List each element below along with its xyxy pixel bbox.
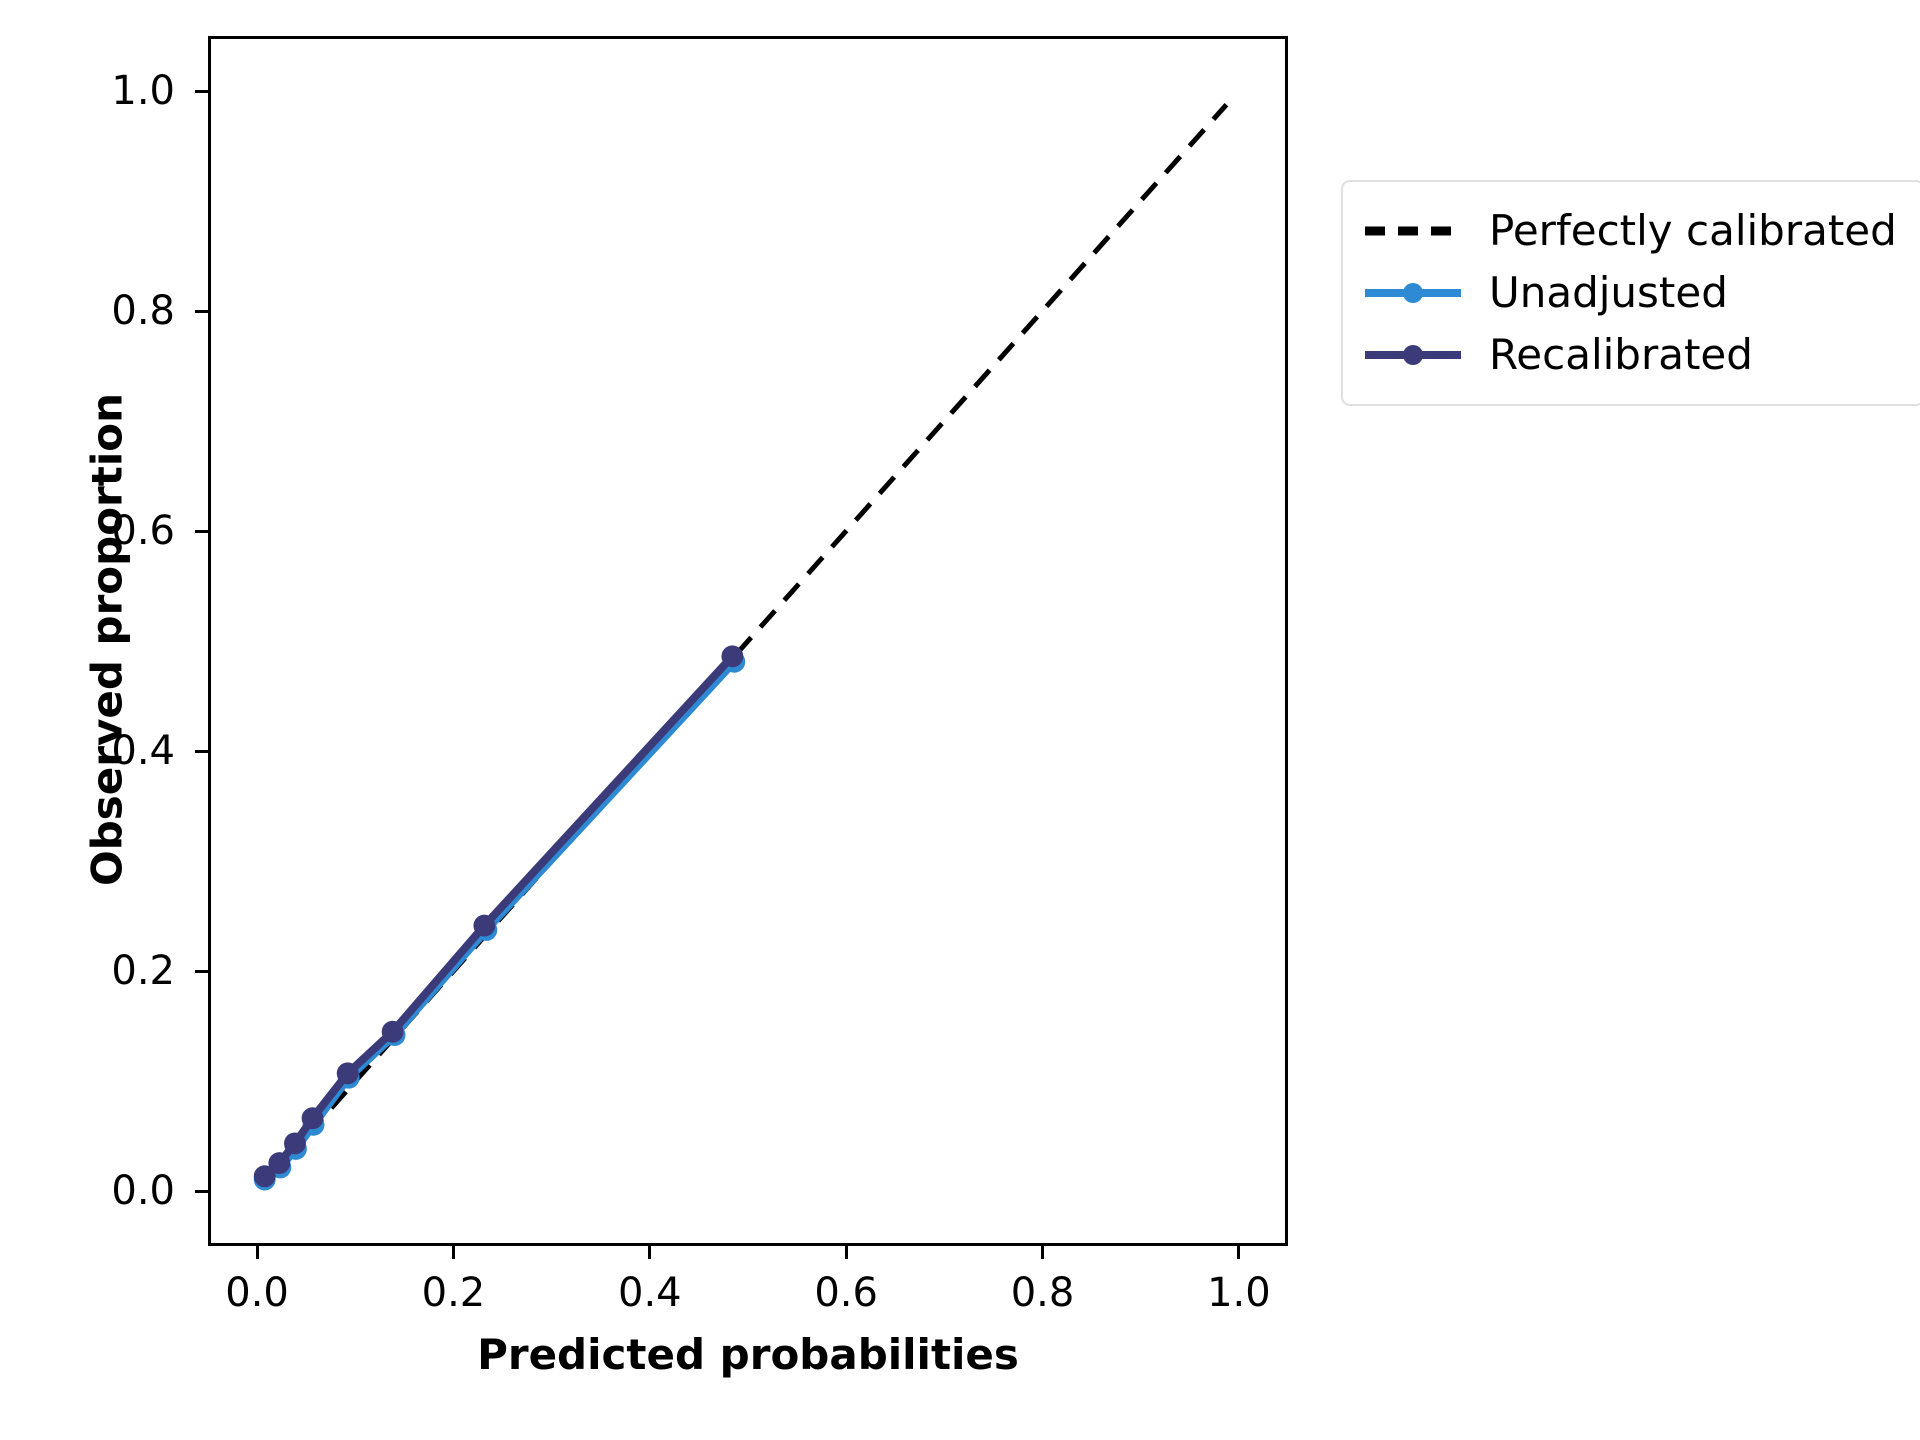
x-axis-label: Predicted probabilities [208,1330,1288,1379]
data-point [268,1152,290,1174]
legend-label: Unadjusted [1489,272,1728,314]
plot-axes-area [208,36,1288,1246]
x-tick-label: 0.2 [422,1270,486,1316]
y-tick-mark [195,970,208,973]
x-tick-mark [1237,1246,1240,1259]
x-tick-mark [256,1246,259,1259]
data-point [337,1062,359,1084]
x-tick-label: 0.6 [814,1270,878,1316]
legend-swatch-icon [1363,340,1463,370]
data-point [302,1107,324,1129]
x-tick-label: 0.4 [618,1270,682,1316]
series-unadjusted [254,651,746,1191]
x-tick-label: 0.8 [1011,1270,1075,1316]
legend-swatch-icon [1363,278,1463,308]
chart-legend: Perfectly calibratedUnadjustedRecalibrat… [1341,180,1920,406]
legend-swatch-icon [1363,216,1463,246]
series-line [265,662,735,1180]
y-tick-mark [195,90,208,93]
y-tick-label: 1.0 [55,68,175,114]
y-tick-mark [195,530,208,533]
legend-label: Recalibrated [1489,334,1753,376]
data-point [473,915,495,937]
y-tick-mark [195,310,208,313]
y-tick-mark [195,1190,208,1193]
calibration-plot-figure: 0.00.20.40.60.81.00.00.20.40.60.81.0 Pre… [0,0,1920,1440]
data-point [382,1021,404,1043]
x-tick-label: 0.0 [225,1270,289,1316]
y-axis-label: Observed proportion [83,240,132,1040]
legend-item-recalibrated[interactable]: Recalibrated [1363,324,1897,386]
legend-item-perfectly-calibrated[interactable]: Perfectly calibrated [1363,200,1897,262]
x-tick-mark [845,1246,848,1259]
x-tick-mark [1041,1246,1044,1259]
data-point [721,645,743,667]
x-tick-label: 1.0 [1207,1270,1271,1316]
y-tick-label: 0.0 [55,1168,175,1214]
x-tick-mark [648,1246,651,1259]
y-tick-mark [195,750,208,753]
x-tick-mark [452,1246,455,1259]
legend-label: Perfectly calibrated [1489,210,1897,252]
legend-item-unadjusted[interactable]: Unadjusted [1363,262,1897,324]
data-point [284,1132,306,1154]
chart-data-svg [211,39,1285,1243]
